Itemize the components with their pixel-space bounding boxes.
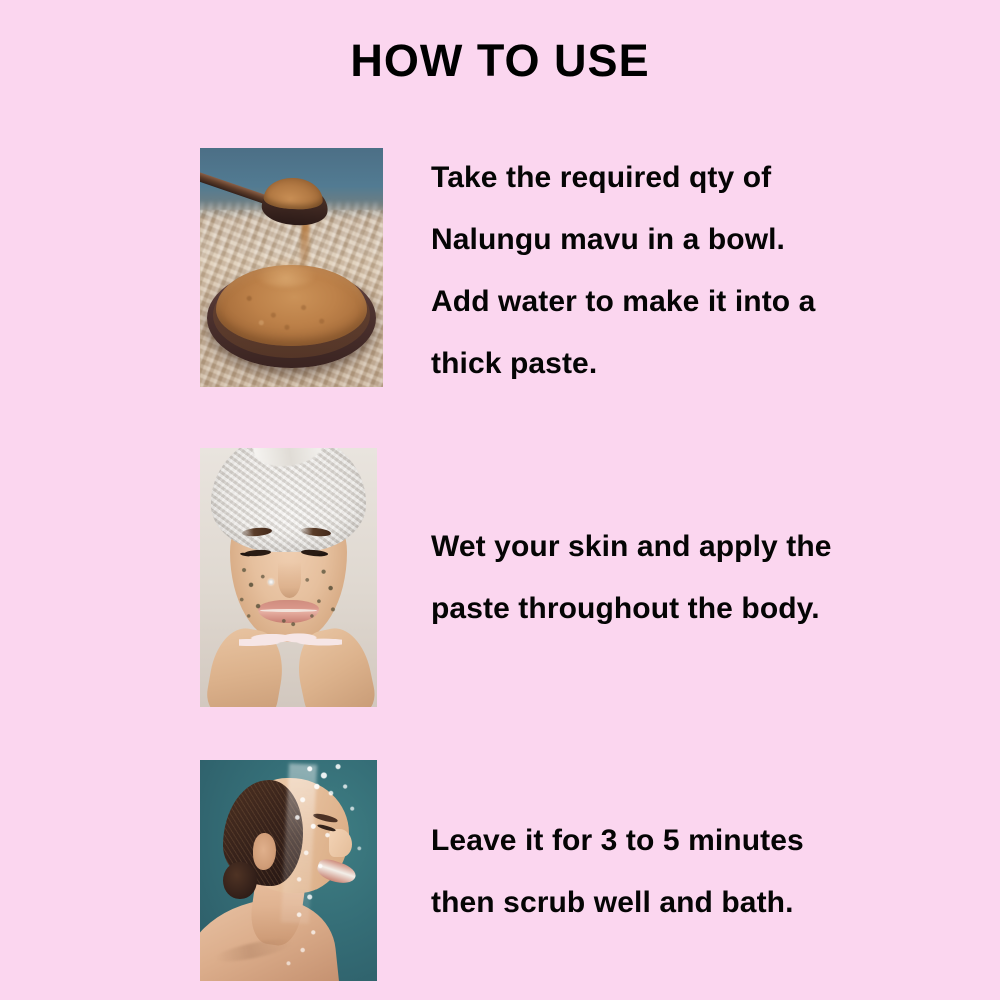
how-to-use-poster: HOW TO USE Take the required qty of Nalu… xyxy=(0,0,1000,1000)
rinsing-water-photo-art xyxy=(200,760,377,981)
water-droplets xyxy=(200,760,377,981)
step-3-caption: Leave it for 3 to 5 minutes then scrub w… xyxy=(431,810,951,934)
applying-scrub-photo-art xyxy=(200,448,377,707)
scrub-speckles-on-face xyxy=(230,552,347,635)
powder-in-bowl-photo-art xyxy=(200,148,383,387)
applying-scrub-photo xyxy=(200,448,377,707)
step-row-3: Leave it for 3 to 5 minutes then scrub w… xyxy=(0,760,1000,982)
powder-in-bowl-photo xyxy=(200,148,383,387)
step-1-caption: Take the required qty of Nalungu mavu in… xyxy=(431,147,951,395)
page-title: HOW TO USE xyxy=(0,36,1000,86)
step-row-1: Take the required qty of Nalungu mavu in… xyxy=(0,148,1000,388)
painted-fingernails xyxy=(239,632,342,653)
powder-grain-speckles xyxy=(216,268,366,344)
rinsing-water-photo xyxy=(200,760,377,981)
step-2-caption: Wet your skin and apply the paste throug… xyxy=(431,516,951,640)
step-row-2: Wet your skin and apply the paste throug… xyxy=(0,448,1000,708)
